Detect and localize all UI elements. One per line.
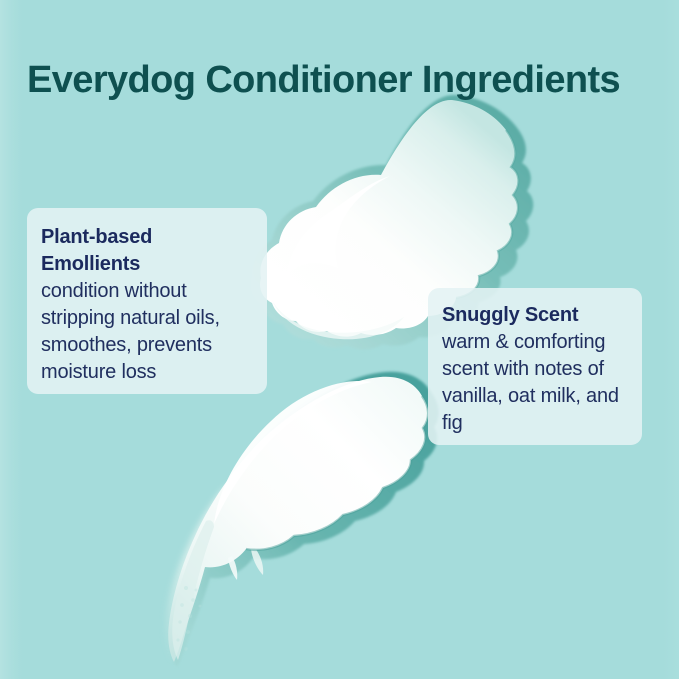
product-ingredients-graphic: Everydog Conditioner Ingredients Plant-b… <box>0 0 679 679</box>
card-heading-plant-based-emollients: Plant-based Emollients <box>41 224 253 278</box>
card-heading-snuggly-scent: Snuggly Scent <box>442 302 629 329</box>
ingredient-card-plant-based-emollients: Plant-based Emollients condition without… <box>27 208 267 394</box>
card-body-plant-based-emollients: condition without stripping natural oils… <box>41 278 253 386</box>
tail-texture <box>176 586 201 651</box>
card-body-snuggly-scent: warm & comforting scent with notes of va… <box>442 329 629 437</box>
page-title: Everydog Conditioner Ingredients <box>27 57 667 103</box>
ingredient-card-snuggly-scent: Snuggly Scent warm & comforting scent wi… <box>428 288 642 445</box>
left-edge-gradient <box>0 0 22 679</box>
cream-swatch-lower <box>166 372 438 667</box>
